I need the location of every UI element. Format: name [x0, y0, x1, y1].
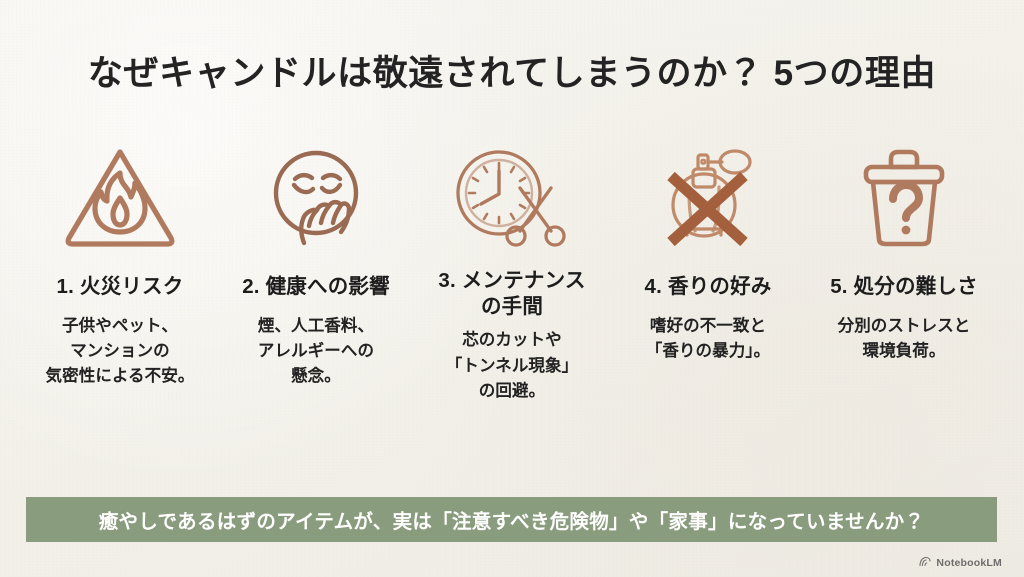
reason-body: 子供やペット、マンションの気密性による不安。	[46, 314, 195, 389]
reason-heading: 2. 健康への影響	[242, 274, 390, 300]
reason-body: 煙、人工香料、アレルギーへの懸念。	[258, 314, 374, 389]
reason-heading: 5. 処分の難しさ	[830, 274, 978, 300]
perfume-bottle-crossed-out-icon	[649, 138, 767, 256]
reason-heading: 4. 香りの好み	[645, 274, 772, 300]
reason-column-5: 5. 処分の難しさ 分別のストレスと環境負荷。	[806, 138, 1002, 364]
notebooklm-watermark: NotebookLM	[919, 554, 1002, 572]
bottom-banner: 癒やしであるはずのアイテムが、実は「注意すべき危険物」や「家事」になっていません…	[26, 497, 997, 542]
reason-body: 分別のストレスと環境負荷。	[838, 314, 971, 364]
reason-column-4: 4. 香りの好み 嗜好の不一致と「香りの暴力」。	[610, 138, 806, 364]
fire-hazard-triangle-icon	[61, 138, 179, 256]
reason-heading: 1. 火災リスク	[57, 274, 184, 300]
page-title: なぜキャンドルは敬遠されてしまうのか？ 5つの理由	[0, 45, 1024, 96]
reason-heading: 3. メンテナンスの手間	[438, 268, 585, 320]
notebooklm-label: NotebookLM	[936, 557, 1002, 569]
trash-can-question-icon	[845, 138, 963, 256]
reasons-row: 1. 火災リスク 子供やペット、マンションの気密性による不安。 2. 健康への影…	[22, 138, 1002, 404]
reason-body: 芯のカットや「トンネル現象」の回避。	[446, 328, 578, 403]
reason-column-2: 2. 健康への影響 煙、人工香料、アレルギーへの懸念。	[218, 138, 414, 389]
reason-body: 嗜好の不一致と「香りの暴力」。	[646, 314, 771, 364]
clock-scissors-icon	[447, 138, 577, 256]
reason-column-1: 1. 火災リスク 子供やペット、マンションの気密性による不安。	[22, 138, 218, 389]
coughing-face-hand-icon	[257, 138, 375, 256]
notebooklm-logo-icon	[919, 554, 931, 572]
reason-column-3: 3. メンテナンスの手間 芯のカットや「トンネル現象」の回避。	[414, 138, 610, 404]
banner-text: 癒やしであるはずのアイテムが、実は「注意すべき危険物」や「家事」になっていません…	[99, 505, 925, 534]
